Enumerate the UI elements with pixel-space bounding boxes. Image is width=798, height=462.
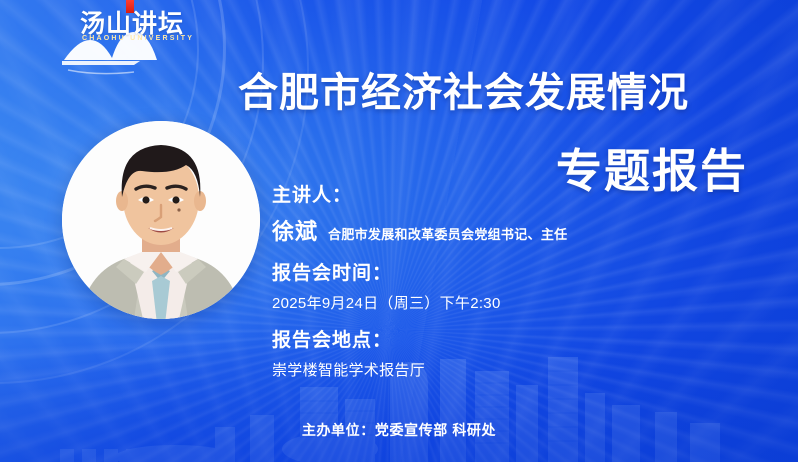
location-label: 报告会地点： (272, 331, 567, 350)
time-label: 报告会时间： (272, 264, 567, 283)
speaker-label: 主讲人： (272, 186, 567, 205)
speaker-row: 徐斌 合肥市发展和改革委员会党组书记、主任 (272, 214, 567, 246)
poster-canvas: 汤山讲坛 CHAOHU UNIVERSITY 合肥市经济社会发展情况 专题报告 (0, 0, 798, 462)
speaker-title: 合肥市发展和改革委员会党组书记、主任 (328, 224, 567, 243)
logo-name-en: CHAOHU UNIVERSITY (82, 35, 194, 42)
time-value: 2025年9月24日（周三）下午2:30 (272, 292, 567, 313)
page-title-line1: 合肥市经济社会发展情况 (238, 60, 689, 118)
page-title-line2: 专题报告 (556, 135, 748, 201)
event-info-block: 主讲人： 徐斌 合肥市发展和改革委员会党组书记、主任 报告会时间： 2025年9… (272, 186, 567, 380)
organizer-footer: 主办单位：党委宣传部 科研处 (0, 420, 798, 440)
speaker-name: 徐斌 (272, 214, 318, 246)
speaker-portrait (62, 121, 260, 319)
location-value: 崇学楼智能学术报告厅 (272, 359, 567, 380)
